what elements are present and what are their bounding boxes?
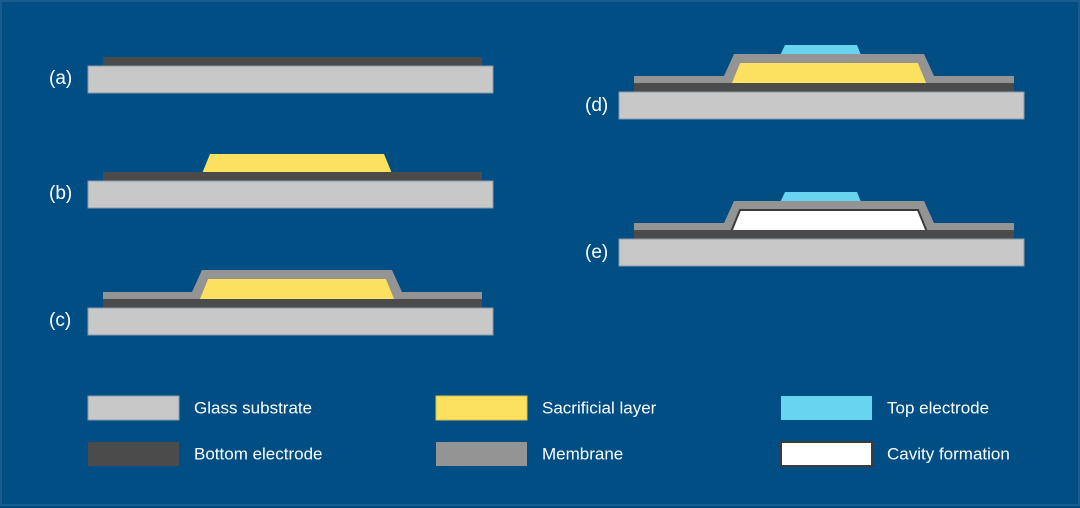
panel-d-label: (d) (585, 95, 608, 116)
legend-item-cavity-formation: Cavity formation (781, 442, 1010, 466)
legend-label-glass-substrate: Glass substrate (194, 398, 312, 417)
legend-swatch-cavity-formation (781, 442, 872, 466)
panel-d-glass-substrate (619, 92, 1024, 119)
panel-e: (e) (585, 192, 1024, 266)
legend-item-membrane: Membrane (436, 442, 623, 466)
legend-swatch-sacrificial-layer (436, 396, 527, 420)
legend-label-bottom-electrode: Bottom electrode (194, 444, 323, 463)
panel-c: (c) (49, 270, 493, 335)
legend-swatch-top-electrode (781, 396, 872, 420)
panel-e-glass-substrate (619, 239, 1024, 266)
panel-c-sacrificial-layer (199, 279, 395, 301)
panel-b: (b) (49, 154, 493, 208)
legend-label-top-electrode: Top electrode (887, 398, 989, 417)
legend-label-sacrificial-layer: Sacrificial layer (542, 398, 657, 417)
legend-label-cavity-formation: Cavity formation (887, 444, 1010, 463)
panel-d: (d) (585, 45, 1024, 119)
panel-a-glass-substrate (88, 66, 493, 93)
legend-swatch-membrane (436, 442, 527, 466)
panel-b-label: (b) (49, 183, 72, 204)
panel-b-glass-substrate (88, 181, 493, 208)
legend-swatch-bottom-electrode (88, 442, 179, 466)
process-flow-figure: (a) (b) (c) (2, 2, 1080, 508)
legend-label-membrane: Membrane (542, 444, 623, 463)
panel-c-glass-substrate (88, 308, 493, 335)
legend-swatch-glass-substrate (88, 396, 179, 420)
diagram-canvas: (a) (b) (c) (0, 0, 1080, 506)
panel-e-cavity-formation (731, 210, 927, 232)
panel-c-label: (c) (49, 310, 71, 331)
legend-item-glass-substrate: Glass substrate (88, 396, 312, 420)
legend-item-top-electrode: Top electrode (781, 396, 989, 420)
panel-e-label: (e) (585, 242, 608, 263)
panel-a-label: (a) (49, 68, 72, 89)
legend: Glass substrate Bottom electrode Sacrifi… (88, 396, 1010, 466)
legend-item-sacrificial-layer: Sacrificial layer (436, 396, 657, 420)
panel-d-sacrificial-layer (731, 63, 927, 85)
panel-a: (a) (49, 57, 493, 93)
legend-item-bottom-electrode: Bottom electrode (88, 442, 323, 466)
